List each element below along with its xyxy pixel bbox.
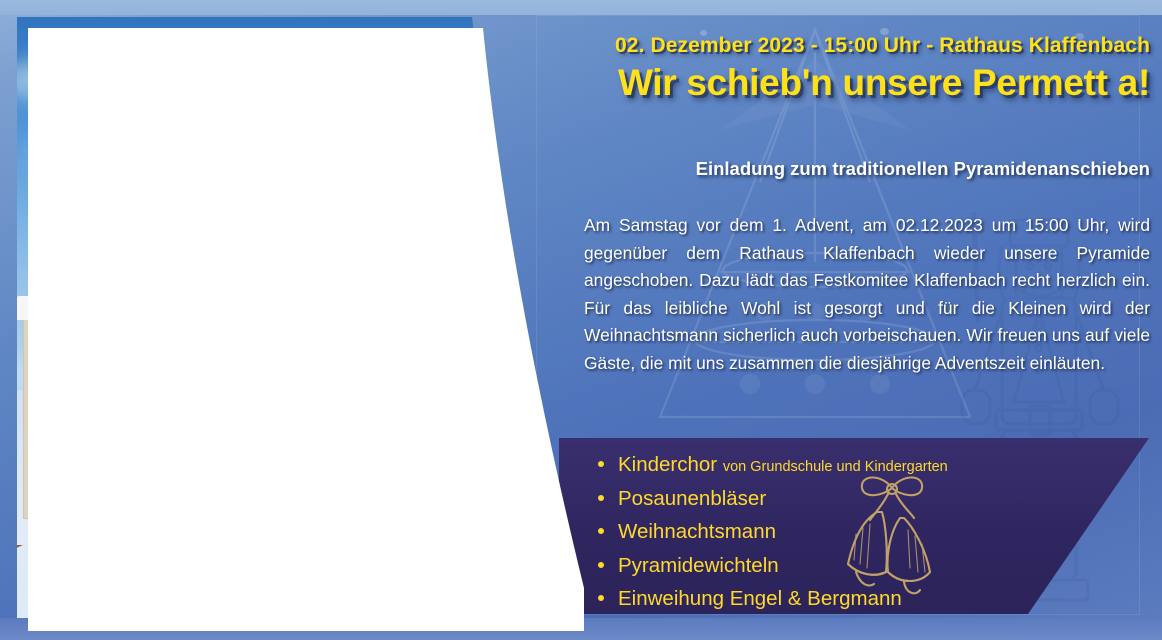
program-item-main: Kinderchor [618,453,717,476]
list-item: Einweihung Engel & Bergmann [590,584,1060,613]
event-kicker: 02. Dezember 2023 - 15:00 Uhr - Rathaus … [530,34,1150,57]
pyramid-photo [17,17,573,620]
program-list: Kinderchor von Grundschule und Kindergar… [590,450,1060,618]
photo-white-border [28,28,584,631]
list-item: Posaunenbläser [590,484,1060,513]
body-text: Am Samstag vor dem 1. Advent, am 02.12.2… [584,212,1150,377]
christmas-bells-icon [830,468,955,603]
page-title: Wir schieb'n unsere Permett a! [530,63,1150,103]
subheading: Einladung zum traditionellen Pyramidenan… [530,158,1150,180]
event-flyer: 02. Dezember 2023 - 15:00 Uhr - Rathaus … [0,0,1162,640]
list-item: Pyramidewichteln [590,551,1060,580]
program-item-main: Weihnachtsmann [618,520,776,543]
list-item: Kinderchor von Grundschule und Kindergar… [590,450,1060,479]
headline-block: 02. Dezember 2023 - 15:00 Uhr - Rathaus … [530,34,1150,103]
list-item: Weihnachtsmann [590,517,1060,546]
program-item-main: Pyramidewichteln [618,554,779,577]
body-paragraph: Am Samstag vor dem 1. Advent, am 02.12.2… [584,215,1150,373]
program-item-main: Posaunenbläser [618,487,766,510]
